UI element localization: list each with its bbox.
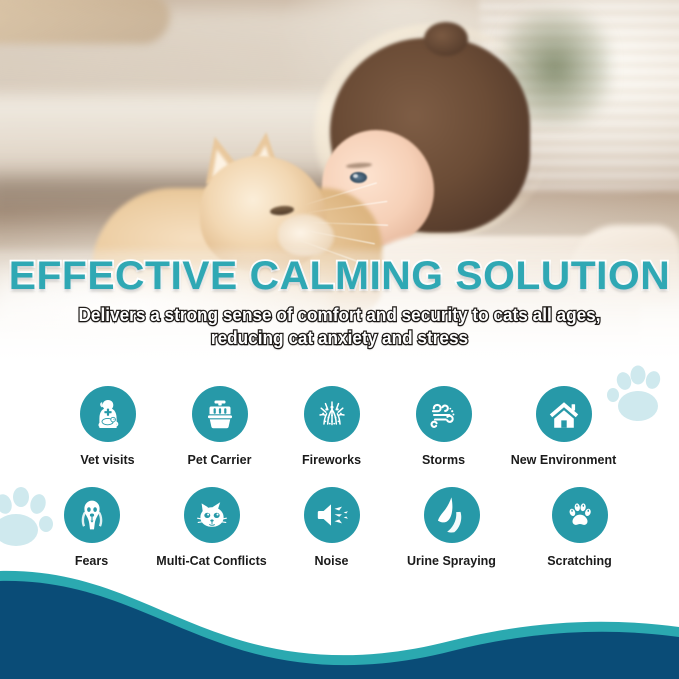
icon-label: Noise	[314, 554, 348, 568]
icon-cell-multi-cat-conflicts[interactable]: Multi-Cat Conflicts	[148, 487, 276, 568]
veterinarian-icon	[80, 386, 136, 442]
icon-label: Scratching	[547, 554, 612, 568]
icon-cell-scratching[interactable]: Scratching	[516, 487, 644, 568]
icon-cell-urine-spraying[interactable]: Urine Spraying	[388, 487, 516, 568]
wind-storm-icon	[416, 386, 472, 442]
icon-row-2: Fears	[0, 487, 679, 568]
benefit-icon-grid: Vet visits	[0, 386, 679, 569]
child-hair-bun	[424, 22, 468, 56]
pet-carrier-icon	[192, 386, 248, 442]
page-subtitle: Delivers a strong sense of comfort and s…	[24, 303, 655, 349]
urine-spray-icon	[424, 487, 480, 543]
icon-label: Multi-Cat Conflicts	[156, 554, 266, 568]
subtitle-line-1: Delivers a strong sense of comfort and s…	[78, 304, 600, 325]
icon-cell-storms[interactable]: Storms	[388, 386, 500, 467]
icon-cell-fears[interactable]: Fears	[36, 487, 148, 568]
subtitle-line-2: reducing cat anxiety and stress	[211, 327, 468, 348]
scared-cat-icon	[64, 487, 120, 543]
icon-label: Pet Carrier	[188, 453, 252, 467]
paw-scratch-icon	[552, 487, 608, 543]
icon-label: Storms	[422, 453, 465, 467]
product-infographic: EFFECTIVE CALMING SOLUTION Delivers a st…	[0, 0, 679, 679]
icon-cell-fireworks[interactable]: Fireworks	[276, 386, 388, 467]
icon-label: New Environment	[511, 453, 617, 467]
icon-label: Urine Spraying	[407, 554, 496, 568]
icon-cell-vet-visits[interactable]: Vet visits	[52, 386, 164, 467]
page-title: EFFECTIVE CALMING SOLUTION	[0, 256, 679, 296]
icon-cell-new-environment[interactable]: New Environment	[500, 386, 628, 467]
icon-label: Vet visits	[80, 453, 134, 467]
fireworks-icon	[304, 386, 360, 442]
icon-cell-pet-carrier[interactable]: Pet Carrier	[164, 386, 276, 467]
footer-wave-decoration	[0, 569, 679, 679]
icon-label: Fireworks	[302, 453, 361, 467]
throw-blanket	[0, 0, 170, 44]
icon-cell-noise[interactable]: Noise	[276, 487, 388, 568]
icon-row-1: Vet visits	[0, 386, 679, 467]
house-icon	[536, 386, 592, 442]
icon-label: Fears	[75, 554, 108, 568]
cat-face-icon	[184, 487, 240, 543]
speaker-noise-icon	[304, 487, 360, 543]
headline-block: EFFECTIVE CALMING SOLUTION Delivers a st…	[0, 256, 679, 349]
